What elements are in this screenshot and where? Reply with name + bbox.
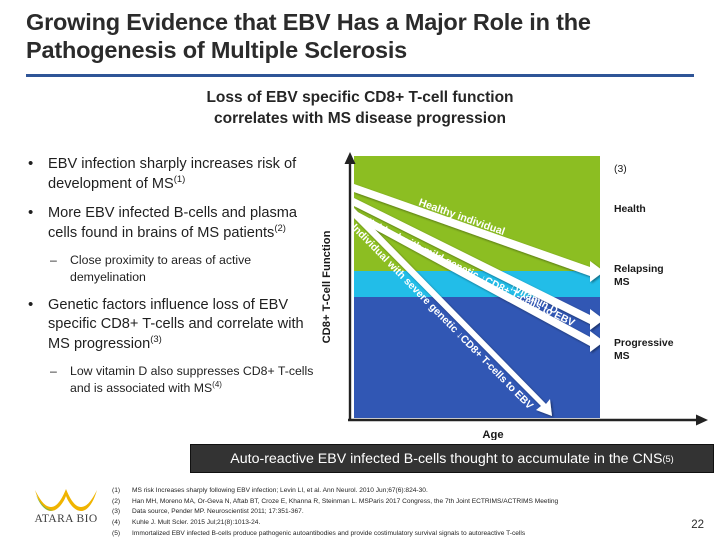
footnote-number: (5) — [112, 529, 132, 540]
bullet-superscript: (3) — [150, 334, 162, 345]
bullet-text: More EBV infected B-cells and plasma cel… — [48, 205, 297, 241]
chart-bands — [354, 156, 600, 418]
bullet-text: Genetic factors influence loss of EBV sp… — [48, 297, 304, 351]
y-axis-arrowhead — [345, 152, 356, 164]
footnote-number: (1) — [112, 486, 132, 497]
band-legend: Health RelapsingMS ProgressiveMS — [614, 204, 674, 362]
cns-banner-superscript: (5) — [662, 454, 673, 464]
footnote-row: (2) Han MH, Moreno MA, Or-Geva N, Aftab … — [112, 497, 682, 508]
x-axis-arrowhead — [696, 415, 708, 426]
ms-progression-chart: CD8+ T-Cell Function Healthy individual — [318, 150, 720, 440]
legend-relapsing-ms: RelapsingMS — [614, 264, 664, 288]
x-axis-label: Age — [482, 429, 503, 440]
bullet-text: EBV infection sharply increases risk of … — [48, 156, 296, 192]
chart-subtitle: Loss of EBV specific CD8+ T-cell functio… — [150, 88, 570, 130]
chart-subtitle-line-1: Loss of EBV specific CD8+ T-cell functio… — [150, 88, 570, 109]
footnote-row: (5) Immortalized EBV infected B-cells pr… — [112, 529, 682, 540]
page-number: 22 — [691, 519, 704, 531]
logo-wordmark: ATARA BIO — [24, 513, 108, 525]
chart-source-marker-text: (3) — [614, 164, 627, 175]
bullet-item: More EBV infected B-cells and plasma cel… — [24, 204, 324, 242]
legend-progressive-ms: ProgressiveMS — [614, 338, 674, 362]
legend-health-text: Health — [614, 204, 646, 215]
bullet-item: Genetic factors influence loss of EBV sp… — [24, 296, 324, 353]
footnote-number: (2) — [112, 497, 132, 508]
footnote-text: Immortalized EBV infected B-cells produc… — [132, 529, 525, 540]
y-axis-label-text: CD8+ T-Cell Function — [321, 230, 333, 343]
footnote-number: (3) — [112, 507, 132, 518]
footnote-row: (4) Kuhle J. Mult Scler. 2015 Jul;21(8):… — [112, 518, 682, 529]
bullet-superscript: (4) — [212, 380, 222, 389]
bullet-superscript: (1) — [174, 174, 186, 185]
footnote-text: Han MH, Moreno MA, Or-Geva N, Aftab BT, … — [132, 497, 558, 508]
bullet-list: EBV infection sharply increases risk of … — [24, 155, 324, 407]
chart-source-marker: (3) — [614, 164, 627, 175]
bullet-text: Low vitamin D also suppresses CD8+ T-cel… — [70, 364, 313, 395]
footnote-row: (3) Data source, Pender MP. Neuroscienti… — [112, 507, 682, 518]
bullet-sub-item: Low vitamin D also suppresses CD8+ T-cel… — [24, 364, 324, 397]
bullet-item: EBV infection sharply increases risk of … — [24, 155, 324, 193]
cns-banner-text: Auto-reactive EBV infected B-cells thoug… — [230, 451, 662, 467]
x-axis-label-text: Age — [482, 429, 503, 440]
footnote-number: (4) — [112, 518, 132, 529]
page-title: Growing Evidence that EBV Has a Major Ro… — [26, 8, 686, 64]
footnote-list: (1) MS risk Increases sharply following … — [112, 486, 682, 539]
cns-callout-banner: Auto-reactive EBV infected B-cells thoug… — [190, 444, 714, 473]
chart-subtitle-line-2: correlates with MS disease progression — [150, 109, 570, 130]
footnote-row: (1) MS risk Increases sharply following … — [112, 486, 682, 497]
bullet-text: Close proximity to areas of active demye… — [70, 253, 251, 284]
crown-icon — [31, 486, 101, 512]
footnote-text: Data source, Pender MP. Neuroscientist 2… — [132, 507, 304, 518]
legend-health: Health — [614, 204, 646, 215]
bullet-sub-item: Close proximity to areas of active demye… — [24, 253, 324, 286]
footnote-text: Kuhle J. Mult Scler. 2015 Jul;21(8):1013… — [132, 518, 260, 529]
bullet-superscript: (2) — [274, 223, 286, 234]
y-axis-label: CD8+ T-Cell Function — [321, 230, 333, 343]
title-divider — [26, 74, 694, 77]
atara-bio-logo: ATARA BIO — [24, 486, 108, 534]
footnote-text: MS risk Increases sharply following EBV … — [132, 486, 428, 497]
